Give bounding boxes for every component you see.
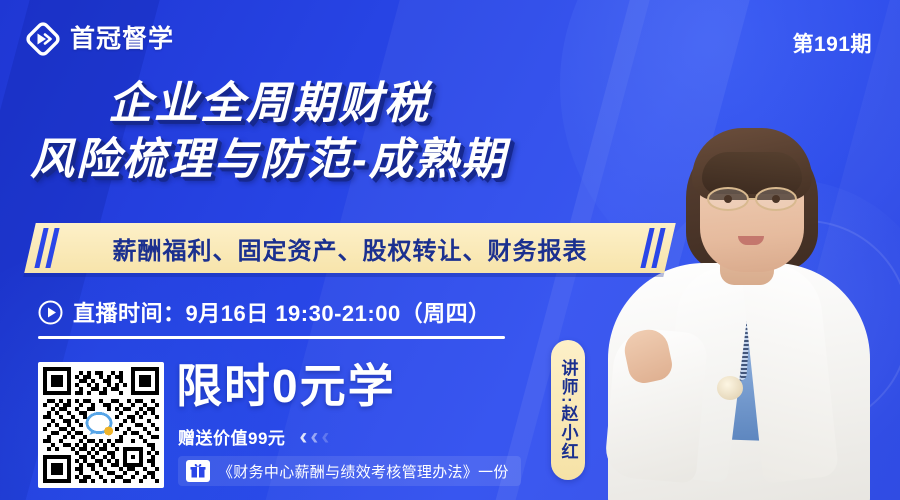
- gift-text: 《财务中心薪酬与绩效考核管理办法》一份: [218, 461, 509, 482]
- instructor-pill: 讲师:赵小红: [551, 340, 585, 480]
- subtitle-ribbon: 薪酬福利、固定资产、股权转让、财务报表: [30, 223, 670, 273]
- brand-name: 首冠督学: [70, 27, 174, 52]
- presenter-glasses: [704, 186, 800, 212]
- promo-banner: 首冠督学 第191期 企业全周期财税 风险梳理与防范-成熟期 薪酬福利、固定资产…: [0, 0, 900, 500]
- subtitle-text: 薪酬福利、固定资产、股权转让、财务报表: [30, 223, 670, 273]
- gift-box-icon: [186, 460, 210, 482]
- offer-sub-text: 赠送价值99元: [178, 424, 285, 449]
- chevron-left-icon: ‹: [299, 425, 307, 449]
- brand-logo[interactable]: 首冠督学: [26, 22, 174, 56]
- live-time-text: 直播时间：9月16日 19:30-21:00（周四）: [73, 296, 491, 328]
- presenter-brooch: [717, 376, 743, 400]
- live-time-row: 直播时间：9月16日 19:30-21:00（周四）: [38, 296, 491, 328]
- qr-code[interactable]: [38, 362, 164, 488]
- instructor-name: 讲师:赵小红: [560, 359, 577, 462]
- gift-row: 《财务中心薪酬与绩效考核管理办法》一份: [178, 456, 521, 486]
- main-title: 企业全周期财税 风险梳理与防范-成熟期: [30, 78, 670, 186]
- chevron-left-icon: ‹: [310, 425, 318, 449]
- play-circle-icon: [38, 300, 63, 325]
- title-line-2: 风险梳理与防范-成熟期: [30, 134, 670, 186]
- live-time-underline: [38, 336, 505, 339]
- chevron-left-group: ‹ ‹ ‹: [299, 425, 329, 449]
- episode-number: 第191期: [792, 28, 872, 58]
- diamond-arrow-icon: [26, 22, 60, 56]
- title-line-1: 企业全周期财税: [30, 78, 670, 130]
- offer-sub-row: 赠送价值99元 ‹ ‹ ‹: [178, 424, 329, 449]
- chat-bubble-icon: [87, 411, 115, 439]
- chevron-left-icon: ‹: [321, 425, 329, 449]
- offer-headline: 限时0元学: [176, 363, 396, 409]
